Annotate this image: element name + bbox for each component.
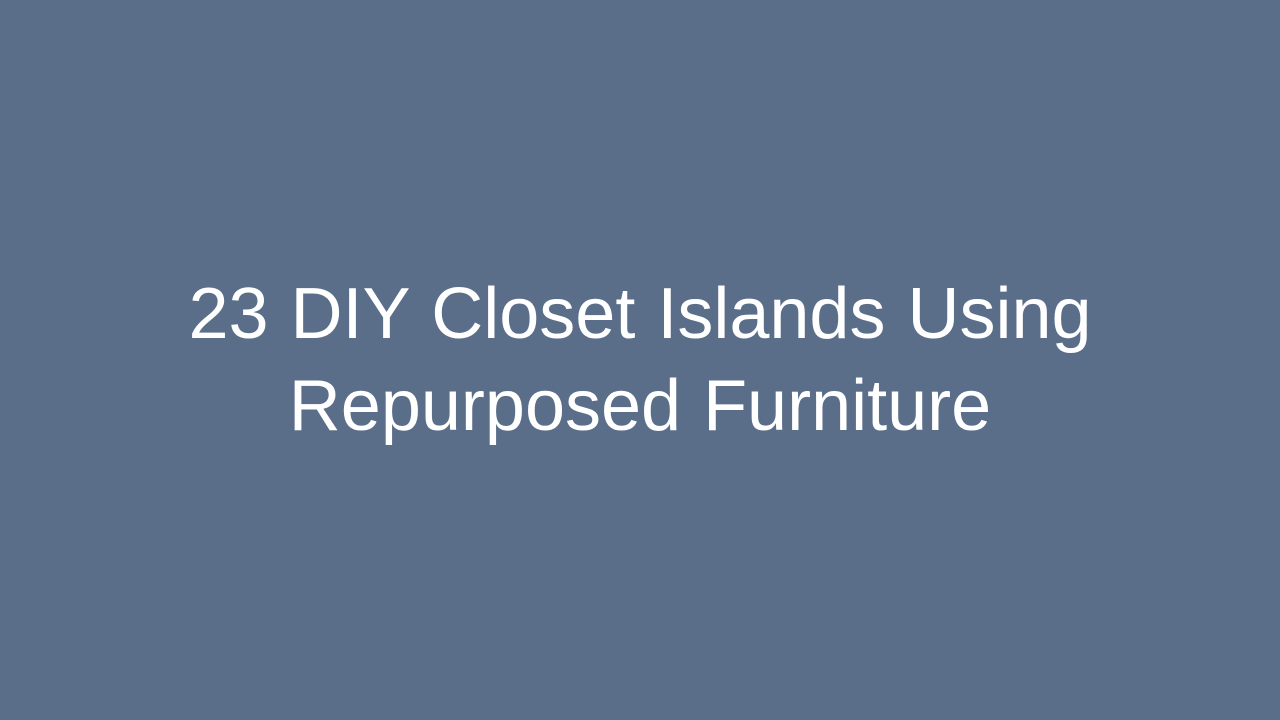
- page-title-line-2: Repurposed Furniture: [40, 360, 1240, 452]
- page-title-line-1: 23 DIY Closet Islands Using: [40, 268, 1240, 360]
- page-title: 23 DIY Closet Islands Using Repurposed F…: [0, 268, 1280, 452]
- title-card: 23 DIY Closet Islands Using Repurposed F…: [0, 0, 1280, 720]
